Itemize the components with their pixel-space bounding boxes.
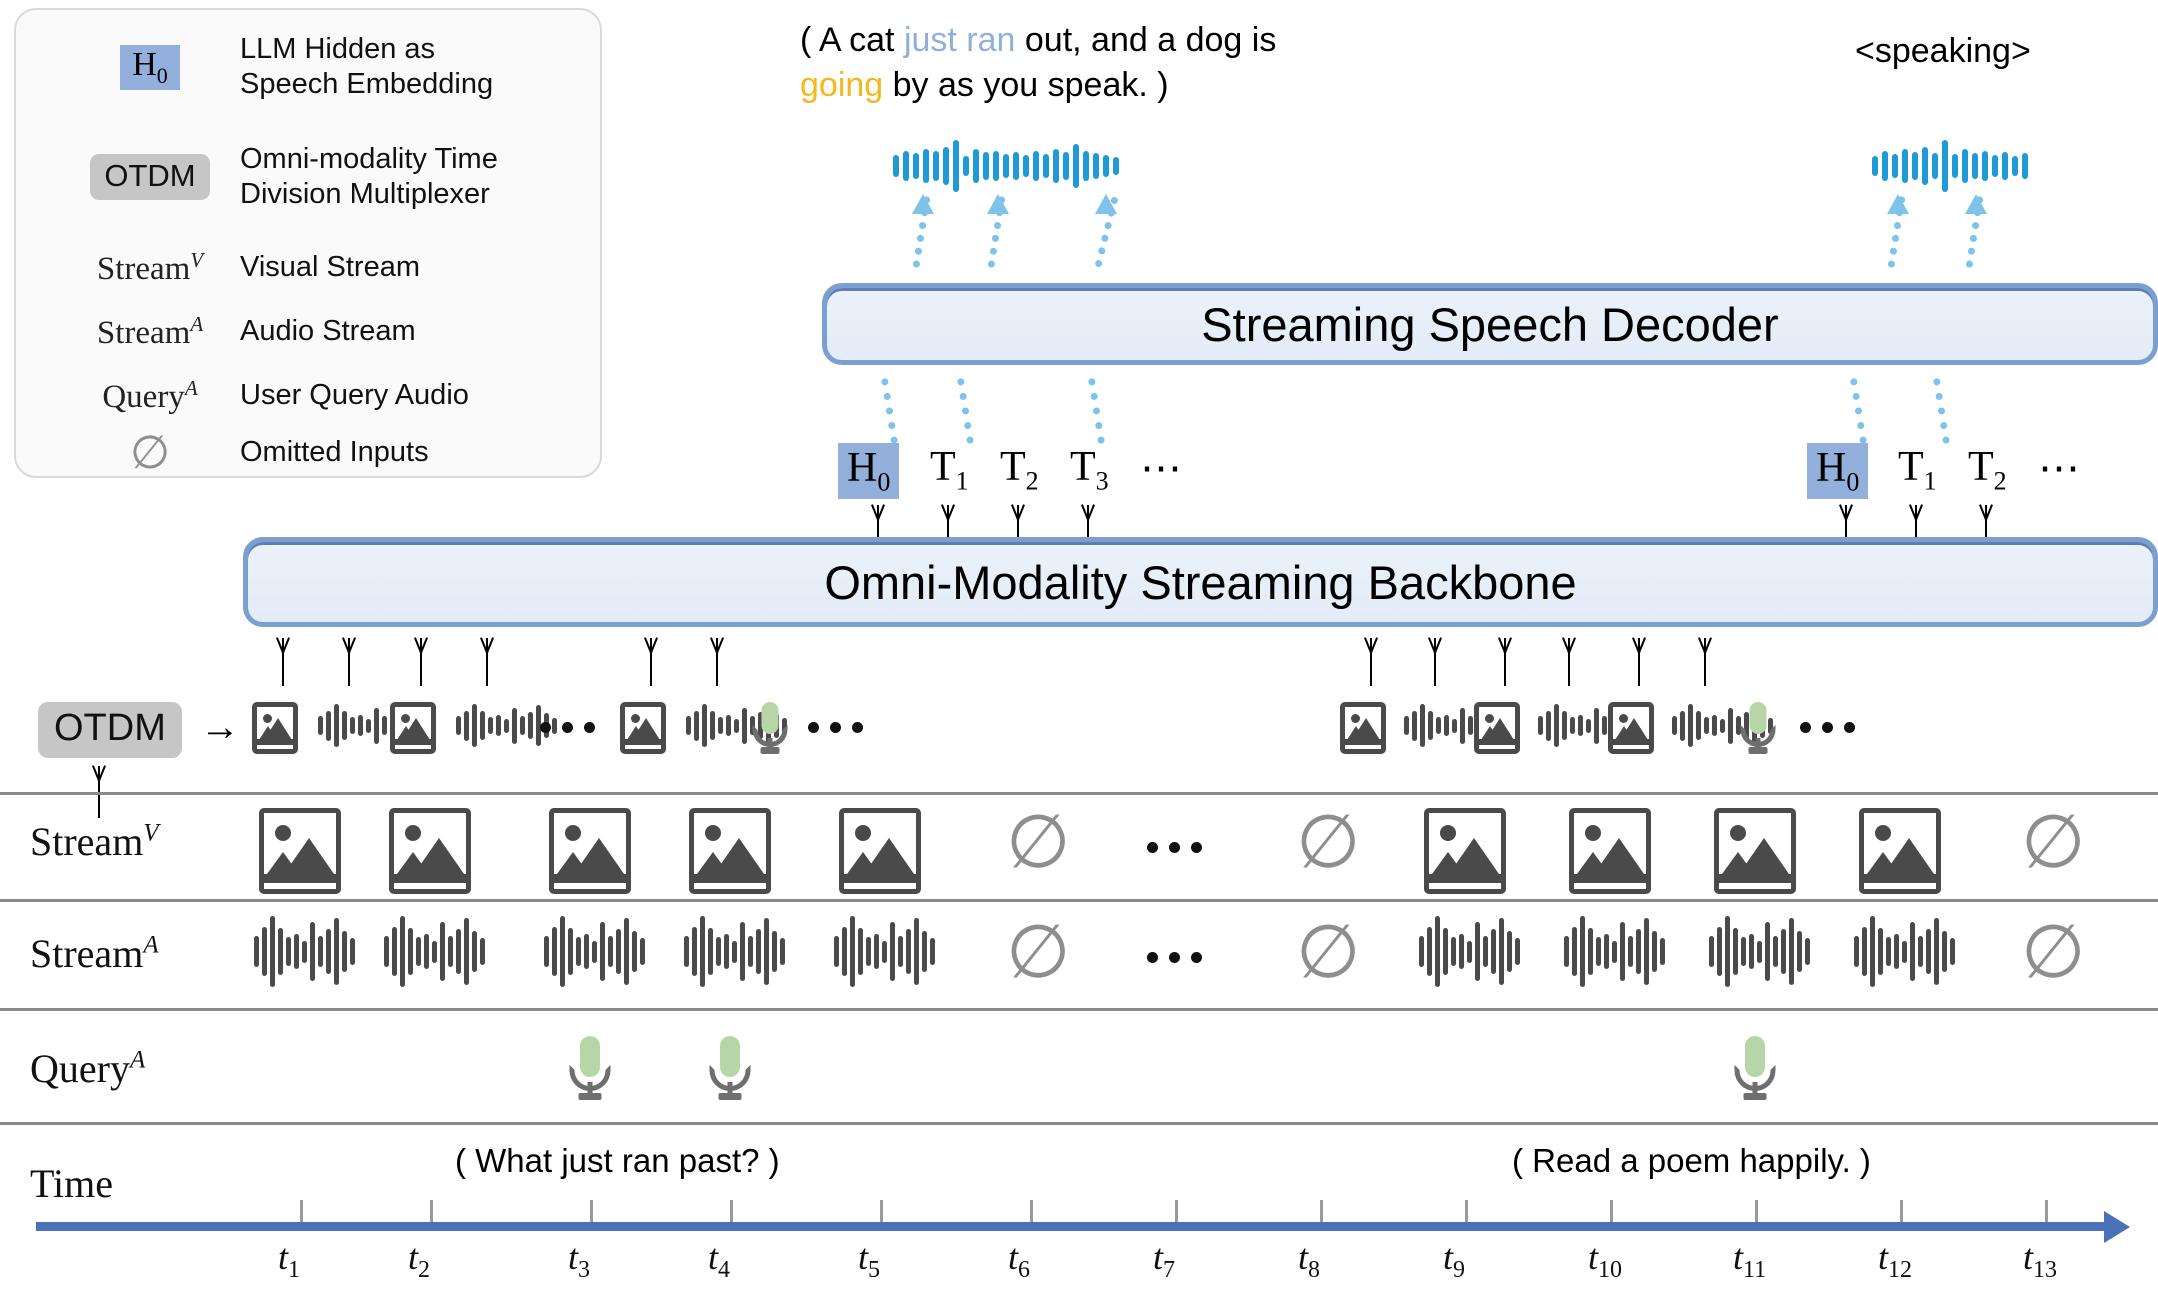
otdm-to-backbone-arrow — [348, 638, 350, 686]
token-t1-right: T1 — [1898, 443, 1937, 496]
legend-label-h0: LLM Hidden asSpeech Embedding — [240, 32, 493, 103]
image-frame-icon — [259, 808, 341, 894]
time-tick-label: t9 — [1443, 1236, 1465, 1284]
row-label-time: Time — [30, 1160, 113, 1207]
legend-label-stream-v: Visual Stream — [240, 250, 420, 285]
legend-row-query-a: QueryA User Query Audio — [60, 376, 469, 416]
time-axis-arrowhead — [2104, 1211, 2130, 1243]
image-frame-icon — [390, 702, 436, 754]
legend-label-otdm: Omni-modality TimeDivision Multiplexer — [240, 142, 498, 213]
query-a-symbol: QueryA — [60, 376, 240, 416]
microphone-icon — [708, 1036, 752, 1102]
legend-row-omitted: ∅ Omitted Inputs — [60, 430, 429, 476]
time-tick-label: t6 — [1008, 1236, 1030, 1284]
backbone-out-arrow-2 — [947, 505, 949, 537]
ellipsis-icon — [1800, 722, 1855, 733]
token-t1-left: T1 — [930, 443, 969, 496]
time-tick-label: t12 — [1878, 1236, 1912, 1284]
microphone-icon — [752, 702, 788, 754]
null-symbol-icon: ∅ — [60, 430, 240, 476]
time-tick — [1320, 1200, 1323, 1222]
otdm-to-backbone-arrow — [420, 638, 422, 686]
ellipsis-icon — [540, 722, 595, 733]
otdm-to-backbone-arrow — [486, 638, 488, 686]
audio-waveform-icon — [1564, 916, 1665, 987]
image-frame-icon — [1608, 702, 1654, 754]
backbone-out-arrow-6 — [1915, 505, 1917, 537]
query-caption-2: ( Read a poem happily. ) — [1512, 1142, 1871, 1180]
backbone-out-arrow-4 — [1087, 505, 1089, 537]
image-frame-icon — [1714, 808, 1796, 894]
time-tick — [430, 1200, 433, 1222]
backbone-out-arrow-3 — [1017, 505, 1019, 537]
legend-row-stream-v: StreamV Visual Stream — [60, 248, 420, 288]
time-tick-label: t5 — [858, 1236, 880, 1284]
time-tick-label: t7 — [1153, 1236, 1175, 1284]
image-frame-icon — [389, 808, 471, 894]
omitted-input-icon: ∅ — [2021, 806, 2085, 880]
microphone-icon — [1733, 1036, 1777, 1102]
row-divider-1 — [0, 899, 2158, 902]
otdm-to-backbone-arrow — [1504, 638, 1506, 686]
token-h0-left: H0 — [838, 443, 899, 499]
image-frame-icon — [839, 808, 921, 894]
output-waveform-right — [1872, 140, 2028, 192]
time-tick — [1175, 1200, 1178, 1222]
audio-waveform-icon — [544, 916, 645, 987]
decoder-out-arrow-5 — [1963, 196, 1993, 268]
otdm-to-backbone-arrow — [650, 638, 652, 686]
otdm-right-arrow-icon: → — [200, 705, 240, 750]
microphone-icon — [1740, 702, 1776, 754]
microphone-icon — [568, 1036, 612, 1102]
otdm-to-backbone-arrow — [1434, 638, 1436, 686]
image-frame-icon — [1859, 808, 1941, 894]
legend-row-stream-a: StreamA Audio Stream — [60, 312, 416, 352]
token-t2-left: T2 — [1000, 443, 1039, 496]
speaking-token-label: <speaking> — [1855, 32, 2031, 71]
ellipsis-icon — [1147, 952, 1202, 963]
token-to-decoder-arrow-2 — [952, 378, 980, 444]
h0-chip: H0 — [60, 45, 240, 90]
time-tick-label: t10 — [1588, 1236, 1622, 1284]
row-label-stream-v: StreamV — [30, 818, 159, 865]
time-tick — [1610, 1200, 1613, 1222]
row-label-stream-a: StreamA — [30, 930, 159, 977]
omitted-input-icon: ∅ — [1296, 806, 1360, 880]
time-tick — [2045, 1200, 2048, 1222]
token-t2-right: T2 — [1968, 443, 2007, 496]
otdm-chip-label: OTDM — [90, 154, 209, 200]
row-divider-top — [0, 792, 2158, 795]
decoder-out-arrow-3 — [1093, 196, 1127, 268]
token-h0-right: H0 — [1807, 443, 1868, 499]
legend-label-omitted: Omitted Inputs — [240, 435, 429, 470]
time-tick-label: t2 — [408, 1236, 430, 1284]
h0-chip-label: H0 — [120, 45, 180, 90]
time-tick — [590, 1200, 593, 1222]
omitted-input-icon: ∅ — [1296, 916, 1360, 990]
ellipsis-icon — [1147, 842, 1202, 853]
speech-output-text: ( A cat just ran out, and a dog is going… — [800, 18, 1360, 108]
time-tick-label: t11 — [1733, 1236, 1766, 1284]
ellipsis-icon — [808, 722, 863, 733]
image-frame-icon — [1569, 808, 1651, 894]
legend-label-stream-a: Audio Stream — [240, 314, 416, 349]
legend-row-h0: H0 LLM Hidden asSpeech Embedding — [60, 32, 493, 103]
time-tick-label: t3 — [568, 1236, 590, 1284]
otdm-to-backbone-arrow — [716, 638, 718, 686]
otdm-chip: OTDM — [60, 154, 240, 200]
token-to-decoder-arrow-1 — [876, 378, 904, 444]
output-waveform-left — [893, 140, 1119, 192]
legend-row-otdm: OTDM Omni-modality TimeDivision Multiple… — [60, 142, 498, 213]
query-caption-1: ( What just ran past? ) — [455, 1142, 780, 1180]
row-divider-3 — [0, 1122, 2158, 1125]
token-to-decoder-arrow-3 — [1083, 378, 1111, 444]
backbone-out-arrow-7 — [1985, 505, 1987, 537]
backbone-title: Omni-Modality Streaming Backbone — [824, 555, 1576, 610]
omitted-input-icon: ∅ — [2021, 916, 2085, 990]
omni-modality-streaming-backbone[interactable]: Omni-Modality Streaming Backbone — [243, 537, 2158, 627]
audio-waveform-icon — [254, 916, 355, 987]
audio-waveform-icon — [1709, 916, 1810, 987]
image-frame-icon — [1424, 808, 1506, 894]
time-tick-label: t13 — [2023, 1236, 2057, 1284]
otdm-badge[interactable]: OTDM — [38, 702, 182, 758]
decoder-out-arrow-1 — [910, 196, 940, 268]
image-frame-icon — [620, 702, 666, 754]
time-tick-label: t4 — [708, 1236, 730, 1284]
token-t3-left: T3 — [1070, 443, 1109, 496]
image-frame-icon — [252, 702, 298, 754]
time-tick — [880, 1200, 883, 1222]
token-to-decoder-arrow-5 — [1928, 378, 1956, 444]
omitted-input-icon: ∅ — [1006, 916, 1070, 990]
text-highlight-blue: just ran — [904, 21, 1016, 59]
otdm-to-backbone-arrow — [1568, 638, 1570, 686]
image-frame-icon — [1340, 702, 1386, 754]
audio-waveform-icon — [834, 916, 935, 987]
time-tick — [730, 1200, 733, 1222]
time-axis-line — [36, 1222, 2106, 1231]
omitted-input-icon: ∅ — [1006, 806, 1070, 880]
legend-label-query-a: User Query Audio — [240, 378, 469, 413]
time-tick — [1465, 1200, 1468, 1222]
image-frame-icon — [549, 808, 631, 894]
audio-waveform-icon — [1854, 916, 1955, 987]
decoder-out-arrow-2 — [985, 196, 1015, 268]
otdm-to-backbone-arrow — [1704, 638, 1706, 686]
time-tick — [1755, 1200, 1758, 1222]
time-tick-label: t8 — [1298, 1236, 1320, 1284]
otdm-to-backbone-arrow — [1638, 638, 1640, 686]
decoder-out-arrow-4 — [1885, 196, 1915, 268]
image-frame-icon — [689, 808, 771, 894]
audio-waveform-icon — [1419, 916, 1520, 987]
token-ellipsis-right: ⋯ — [2038, 443, 2080, 493]
time-tick — [1900, 1200, 1903, 1222]
time-tick — [1030, 1200, 1033, 1222]
otdm-to-backbone-arrow — [282, 638, 284, 686]
stream-a-symbol: StreamA — [60, 312, 240, 352]
time-tick — [300, 1200, 303, 1222]
stream-v-symbol: StreamV — [60, 248, 240, 288]
image-frame-icon — [1474, 702, 1520, 754]
audio-waveform-icon — [684, 916, 785, 987]
row-divider-2 — [0, 1008, 2158, 1011]
text-highlight-gold: going — [800, 66, 883, 104]
time-tick-label: t1 — [278, 1236, 300, 1284]
otdm-to-backbone-arrow — [1370, 638, 1372, 686]
streaming-speech-decoder[interactable]: Streaming Speech Decoder — [822, 283, 2158, 365]
token-ellipsis-left: ⋯ — [1140, 443, 1182, 493]
decoder-title: Streaming Speech Decoder — [1201, 297, 1778, 352]
row-label-query-a: QueryA — [30, 1045, 145, 1092]
token-to-decoder-arrow-4 — [1845, 378, 1873, 444]
audio-waveform-icon — [384, 916, 485, 987]
